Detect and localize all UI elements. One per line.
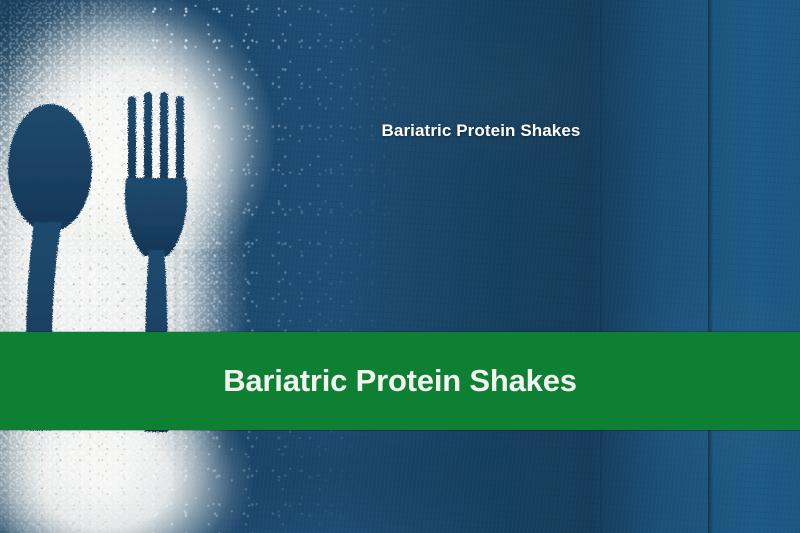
cutlery-silhouettes bbox=[0, 0, 800, 533]
photo-overlay-heading: Bariatric Protein Shakes bbox=[0, 121, 800, 141]
banner-title: Bariatric Protein Shakes bbox=[223, 363, 577, 399]
green-banner: Bariatric Protein Shakes bbox=[0, 332, 800, 430]
banner-card: Bariatric Protein Shakes Bariatric Prote… bbox=[0, 0, 800, 533]
